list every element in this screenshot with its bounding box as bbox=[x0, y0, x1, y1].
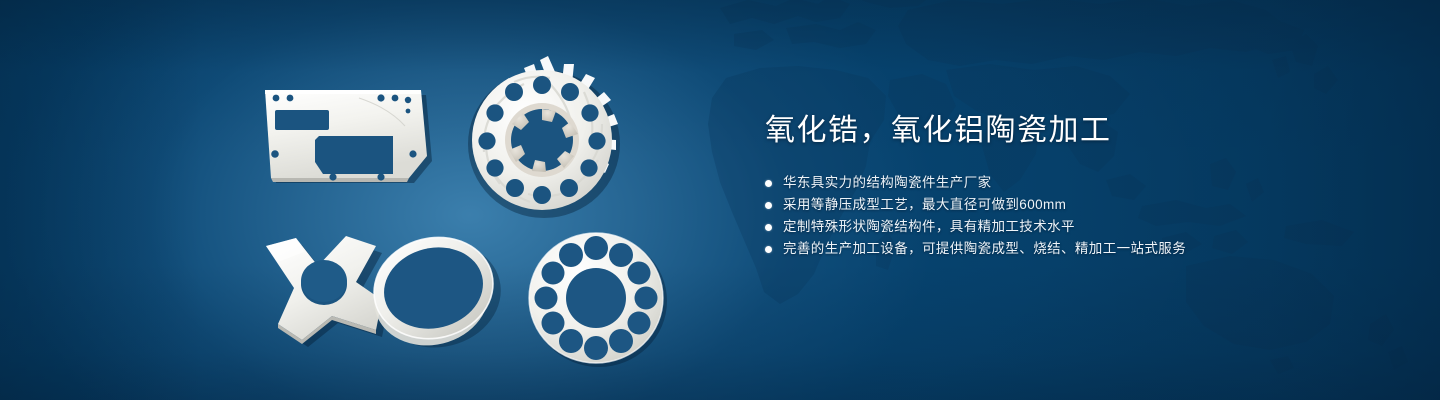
product-ceramic-ring bbox=[352, 226, 517, 356]
feature-list: 华东具实力的结构陶瓷件生产厂家 采用等静压成型工艺，最大直径可做到600mm 定… bbox=[765, 172, 1385, 260]
feature-list-item: 完善的生产加工设备，可提供陶瓷成型、烧结、精加工一站式服务 bbox=[765, 238, 1385, 260]
bullet-dot-icon bbox=[765, 202, 772, 209]
bullet-dot-icon bbox=[765, 224, 772, 231]
hero-banner: 氧化锆，氧化铝陶瓷加工 华东具实力的结构陶瓷件生产厂家 采用等静压成型工艺，最大… bbox=[0, 0, 1440, 400]
feature-text: 定制特殊形状陶瓷结构件，具有精加工技术水平 bbox=[783, 216, 1075, 238]
banner-content: 氧化锆，氧化铝陶瓷加工 华东具实力的结构陶瓷件生产厂家 采用等静压成型工艺，最大… bbox=[765, 112, 1385, 260]
feature-text: 完善的生产加工设备，可提供陶瓷成型、烧结、精加工一站式服务 bbox=[783, 238, 1186, 260]
feature-text: 华东具实力的结构陶瓷件生产厂家 bbox=[783, 172, 992, 194]
feature-list-item: 华东具实力的结构陶瓷件生产厂家 bbox=[765, 172, 1385, 194]
product-ceramic-perforated-disc bbox=[522, 228, 672, 370]
feature-list-item: 采用等静压成型工艺，最大直径可做到600mm bbox=[765, 194, 1385, 216]
product-photo-cluster bbox=[0, 0, 760, 400]
feature-list-item: 定制特殊形状陶瓷结构件，具有精加工技术水平 bbox=[765, 216, 1385, 238]
feature-text: 采用等静压成型工艺，最大直径可做到600mm bbox=[783, 194, 1066, 216]
bullet-dot-icon bbox=[765, 246, 772, 253]
banner-headline: 氧化锆，氧化铝陶瓷加工 bbox=[765, 112, 1385, 150]
product-ceramic-impeller-wheel bbox=[452, 52, 632, 227]
bullet-dot-icon bbox=[765, 180, 772, 187]
product-ceramic-machined-plate bbox=[253, 78, 443, 198]
